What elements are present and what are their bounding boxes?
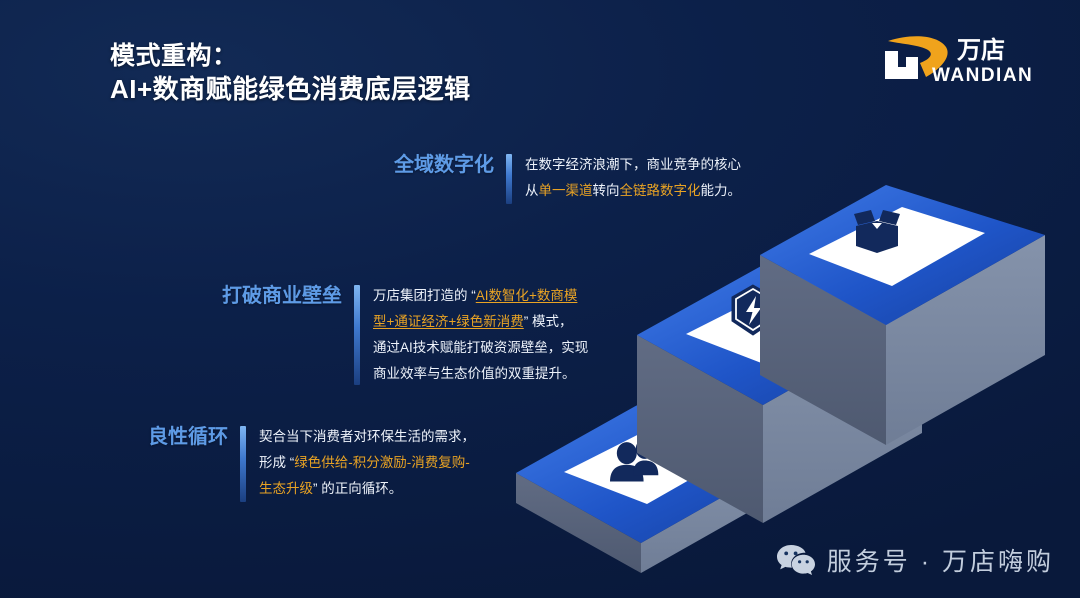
page-title: 模式重构： AI+数商赋能绿色消费底层逻辑: [110, 40, 471, 106]
block-body: 契合当下消费者对环保生活的需求， 形成 “绿色供给-积分激励-消费复购- 生态升…: [259, 424, 475, 502]
wechat-account-footer: 服务号 · 万店嗨购: [776, 542, 1054, 578]
logo-en-name: WANDIAN: [932, 65, 1033, 86]
block-heading: 全域数字化: [394, 152, 494, 178]
title-line-1: 模式重构：: [110, 40, 471, 73]
body-line: 商业效率与生态价值的双重提升。: [373, 361, 588, 387]
accent-bar: [240, 426, 246, 502]
accent-bar: [354, 285, 360, 385]
wechat-icon: [776, 543, 816, 577]
slide-canvas: 模式重构： AI+数商赋能绿色消费底层逻辑 万店 WANDIAN: [0, 0, 1080, 598]
body-line: 生态升级” 的正向循环。: [259, 476, 475, 502]
body-line: 形成 “绿色供给-积分激励-消费复购-: [259, 450, 475, 476]
block-heading: 打破商业壁垒: [222, 283, 342, 309]
block-body: 万店集团打造的 “AI数智化+数商模 型+通证经济+绿色新消费” 模式， 通过A…: [373, 283, 588, 387]
text-block-barriers: 打破商业壁垒 万店集团打造的 “AI数智化+数商模 型+通证经济+绿色新消费” …: [222, 283, 588, 387]
logo-mark-icon: [885, 51, 918, 79]
body-line: 契合当下消费者对环保生活的需求，: [259, 424, 475, 450]
wechat-account-label: 服务号 · 万店嗨购: [827, 542, 1054, 578]
body-line: 从单一渠道转向全链路数字化能力。: [525, 178, 741, 204]
body-line: 型+通证经济+绿色新消费” 模式，: [373, 309, 588, 335]
brand-logo: 万店 WANDIAN: [872, 27, 1058, 89]
body-line: 万店集团打造的 “AI数智化+数商模: [373, 283, 588, 309]
block-body: 在数字经济浪潮下，商业竞争的核心 从单一渠道转向全链路数字化能力。: [525, 152, 741, 204]
accent-bar: [506, 154, 512, 204]
logo-cn-name: 万店: [957, 37, 1005, 64]
text-block-digitalization: 全域数字化 在数字经济浪潮下，商业竞争的核心 从单一渠道转向全链路数字化能力。: [394, 152, 741, 204]
text-block-virtuous-cycle: 良性循环 契合当下消费者对环保生活的需求， 形成 “绿色供给-积分激励-消费复购…: [148, 424, 475, 502]
title-line-2: AI+数商赋能绿色消费底层逻辑: [110, 73, 471, 106]
body-line: 在数字经济浪潮下，商业竞争的核心: [525, 152, 741, 178]
block-heading: 良性循环: [148, 424, 228, 450]
body-line: 通过AI技术赋能打破资源壁垒，实现: [373, 335, 588, 361]
